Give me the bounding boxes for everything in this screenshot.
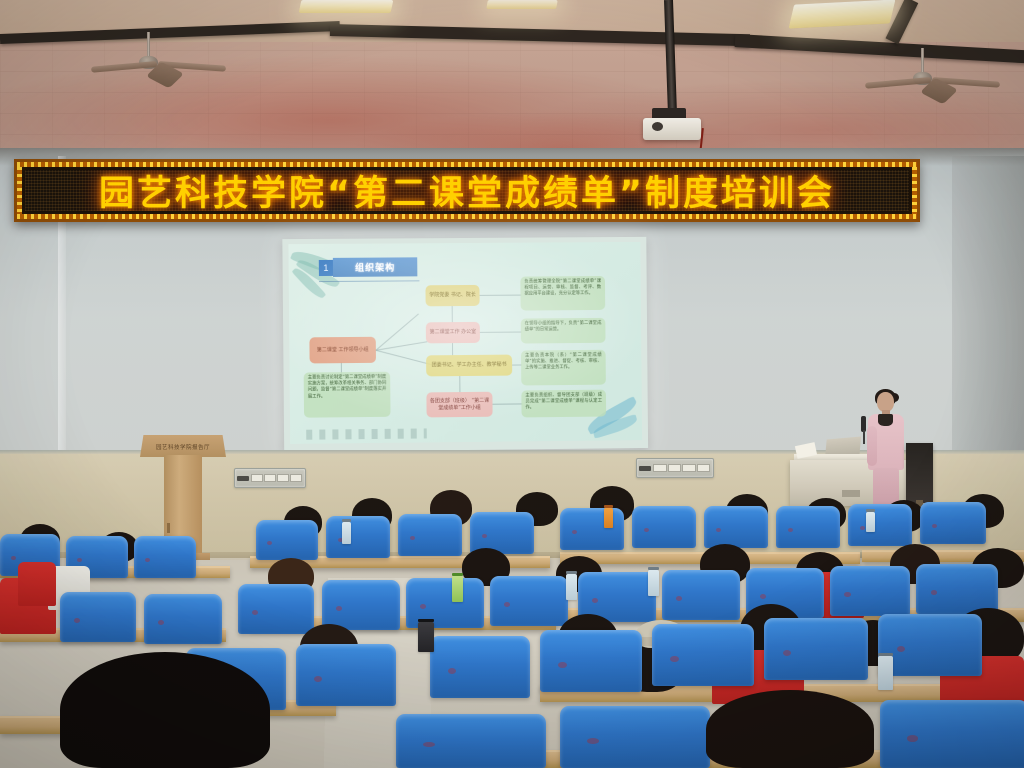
- auditorium-seat: [632, 506, 696, 548]
- wall-control-panel[interactable]: [234, 468, 306, 488]
- audience-shirt: [18, 562, 56, 606]
- panel-switch[interactable]: [682, 464, 696, 472]
- projection-screen: 1 组织架构 第二课堂 工作领导小组 学院党委 书记、院长 第二课堂工作 办公室…: [282, 237, 648, 452]
- diagram-node-root: 第二课堂 工作领导小组: [309, 337, 376, 364]
- lectern-label: 园艺科技学院报告厅: [148, 442, 218, 451]
- auditorium-seat: [60, 592, 136, 642]
- panel-switch[interactable]: [290, 474, 302, 482]
- auditorium-seat: [238, 584, 314, 634]
- auditorium-seat: [540, 630, 642, 692]
- led-banner-text: 园艺科技学院“第二课堂成绩单”制度培训会: [99, 170, 835, 211]
- panel-switch[interactable]: [653, 464, 667, 472]
- diagram-node: 第二课堂工作 办公室: [426, 322, 480, 343]
- panel-switch[interactable]: [264, 474, 276, 482]
- presenter-arm: [867, 426, 877, 466]
- auditorium-seat: [776, 506, 840, 548]
- auditorium-seat: [848, 504, 912, 546]
- bottle-cap: [866, 509, 875, 512]
- water-bottle: [566, 574, 577, 600]
- water-bottle: [604, 508, 613, 528]
- pa-speaker: [906, 443, 933, 503]
- led-banner: 园艺科技学院“第二课堂成绩单”制度培训会: [14, 159, 920, 222]
- presenter-lower-body: [873, 468, 899, 506]
- auditorium-seat: [430, 636, 530, 698]
- auditorium-seat: [296, 644, 396, 706]
- bottle-cap: [418, 619, 434, 622]
- diagram-description: 在领导小组的指导下，负责“第二课堂成绩单”的日常运营。: [521, 318, 606, 344]
- water-bottle: [418, 622, 434, 652]
- diagram-connector: [452, 306, 453, 322]
- diagram-node: 团委书记、学工办主任、教学秘书: [426, 355, 512, 377]
- fan-pole: [147, 32, 150, 58]
- fan-pole: [921, 48, 924, 74]
- auditorium-seat: [920, 502, 986, 544]
- diagram-connector: [480, 295, 522, 296]
- diagram-description: 主要负责组织、督导团支部（班级）成员完成“第二课堂成绩单”课程与认定工作。: [521, 390, 606, 418]
- diagram-description: 主要负责讨论制定“第二课堂成绩单”制度实施方案，统筹改革相关事务、部门协同问题，…: [304, 372, 391, 418]
- presenter-head: [877, 392, 894, 412]
- diagram-connector: [493, 403, 523, 404]
- auditorium-seat: [830, 566, 910, 616]
- slide-section-title-bar: 组织架构: [333, 257, 418, 277]
- diagram-description: 主要负责本院（系）“第二课堂成绩单”的实施、推进、督促、考核、审核、上传等二课堂…: [521, 350, 606, 386]
- presentation-slide: 1 组织架构 第二课堂 工作领导小组 学院党委 书记、院长 第二课堂工作 办公室…: [288, 242, 642, 444]
- diagram-connector: [376, 350, 433, 365]
- bottle-cap: [342, 519, 351, 522]
- bottle-cap: [648, 567, 659, 570]
- water-bottle: [648, 570, 659, 596]
- panel-switch[interactable]: [251, 474, 263, 482]
- panel-switch[interactable]: [277, 474, 289, 482]
- wall-right-return: [952, 156, 1024, 456]
- panel-knob-icon: [237, 476, 249, 481]
- auditorium-seat: [322, 580, 400, 630]
- auditorium-seat: [662, 570, 740, 620]
- panel-switch[interactable]: [697, 464, 711, 472]
- presenter-collar: [878, 414, 893, 426]
- panel-light: [299, 0, 394, 13]
- foreground-head: [60, 652, 270, 768]
- auditorium-seat: [398, 514, 462, 556]
- auditorium-seat: [916, 564, 998, 614]
- water-bottle: [452, 576, 463, 602]
- auditorium-seat: [560, 508, 624, 550]
- diagram-connector: [452, 343, 453, 355]
- bottle-cap: [604, 505, 613, 508]
- auditorium-seat: [326, 516, 390, 558]
- auditorium-seat: [256, 520, 318, 560]
- panel-switch[interactable]: [668, 464, 682, 472]
- auditorium-seat: [144, 594, 222, 644]
- auditorium-seat: [880, 700, 1024, 768]
- panel-knob-icon: [639, 466, 651, 471]
- ceiling-projector: [643, 118, 701, 140]
- microphone-handle: [863, 430, 865, 444]
- water-bottle: [866, 512, 875, 532]
- diagram-node: 学院党委 书记、院长: [425, 285, 479, 306]
- diagram-node: 各团支部（班级） “第二课堂成绩单”工作小组: [426, 392, 492, 418]
- diagram-description: 负责统筹管理全院“第二课堂成绩单”课程项目、运营、审核、监督、考评、数据应用平台…: [520, 276, 605, 311]
- wall-control-panel[interactable]: [636, 458, 714, 478]
- bottle-cap: [566, 571, 577, 574]
- bottle-cap: [452, 573, 463, 576]
- auditorium-seat: [764, 618, 868, 680]
- lecture-hall-photo: 园艺科技学院“第二课堂成绩单”制度培训会 1 组织架构: [0, 0, 1024, 768]
- water-bottle: [878, 656, 893, 690]
- bottle-cap: [878, 653, 893, 656]
- diagram-connector: [480, 332, 522, 333]
- auditorium-seat: [490, 576, 568, 626]
- foreground-head: [706, 690, 874, 768]
- auditorium-seat: [560, 706, 710, 768]
- slide-footer-text: [306, 428, 427, 439]
- auditorium-seat: [704, 506, 768, 548]
- diagram-connector: [459, 376, 460, 392]
- auditorium-seat: [652, 624, 754, 686]
- slide-section-number: 1: [319, 260, 333, 276]
- desk-front-panel: [842, 490, 860, 497]
- led-display-area: 园艺科技学院“第二课堂成绩单”制度培训会: [25, 170, 909, 211]
- water-bottle: [342, 522, 351, 544]
- lectern-slot: [167, 523, 170, 533]
- slide-title-underline: [319, 280, 419, 282]
- projector-lens-icon: [652, 122, 663, 131]
- slide-section-title: 组织架构: [355, 260, 395, 273]
- panel-light: [486, 0, 558, 9]
- auditorium-seat: [878, 614, 982, 676]
- auditorium-seat: [396, 714, 546, 768]
- auditorium-seat: [134, 536, 196, 578]
- presenter: [866, 392, 906, 506]
